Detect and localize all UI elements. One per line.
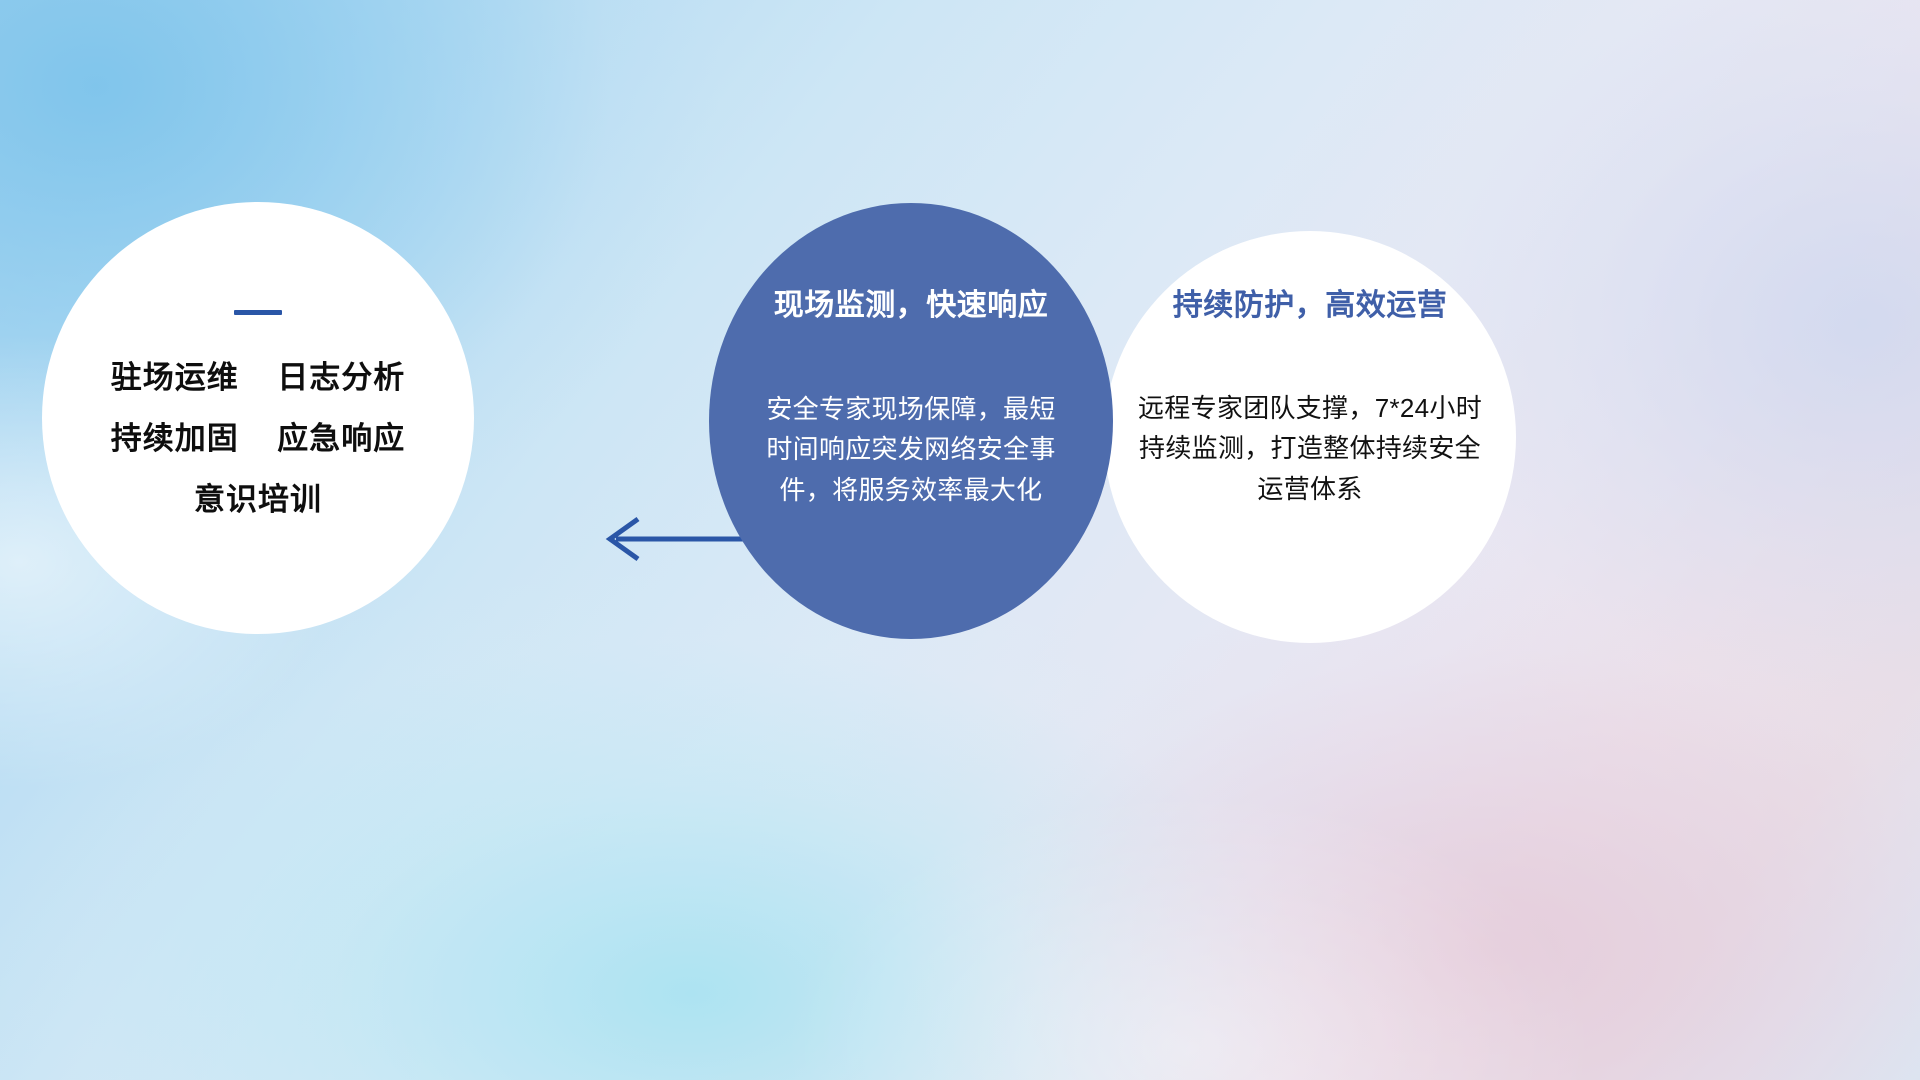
right-feature-title: 持续防护，高效运营 — [1173, 289, 1448, 322]
right-feature-circle[interactable]: 持续防护，高效运营 远程专家团队支撑，7*24小时持续监测，打造整体持续安全运营… — [1104, 231, 1516, 643]
mid-feature-circle[interactable]: 现场监测，快速响应 安全专家现场保障，最短时间响应突发网络安全事件，将服务效率最… — [709, 203, 1113, 639]
divider-dash-icon — [234, 310, 282, 315]
left-capability-line-2: 持续加固 应急响应 — [111, 423, 405, 454]
slide-canvas: 驻场运维 日志分析 持续加固 应急响应 意识培训 持续防护，高效运营 远程专家团… — [0, 0, 1920, 1080]
left-capability-line-1: 驻场运维 日志分析 — [111, 362, 405, 393]
mid-feature-body: 安全专家现场保障，最短时间响应突发网络安全事件，将服务效率最大化 — [761, 389, 1061, 510]
right-feature-body: 远程专家团队支撑，7*24小时持续监测，打造整体持续安全运营体系 — [1134, 388, 1486, 509]
mid-feature-title: 现场监测，快速响应 — [774, 289, 1049, 322]
left-capability-line-3: 意识培训 — [194, 484, 322, 515]
left-capability-circle[interactable]: 驻场运维 日志分析 持续加固 应急响应 意识培训 — [42, 202, 474, 634]
